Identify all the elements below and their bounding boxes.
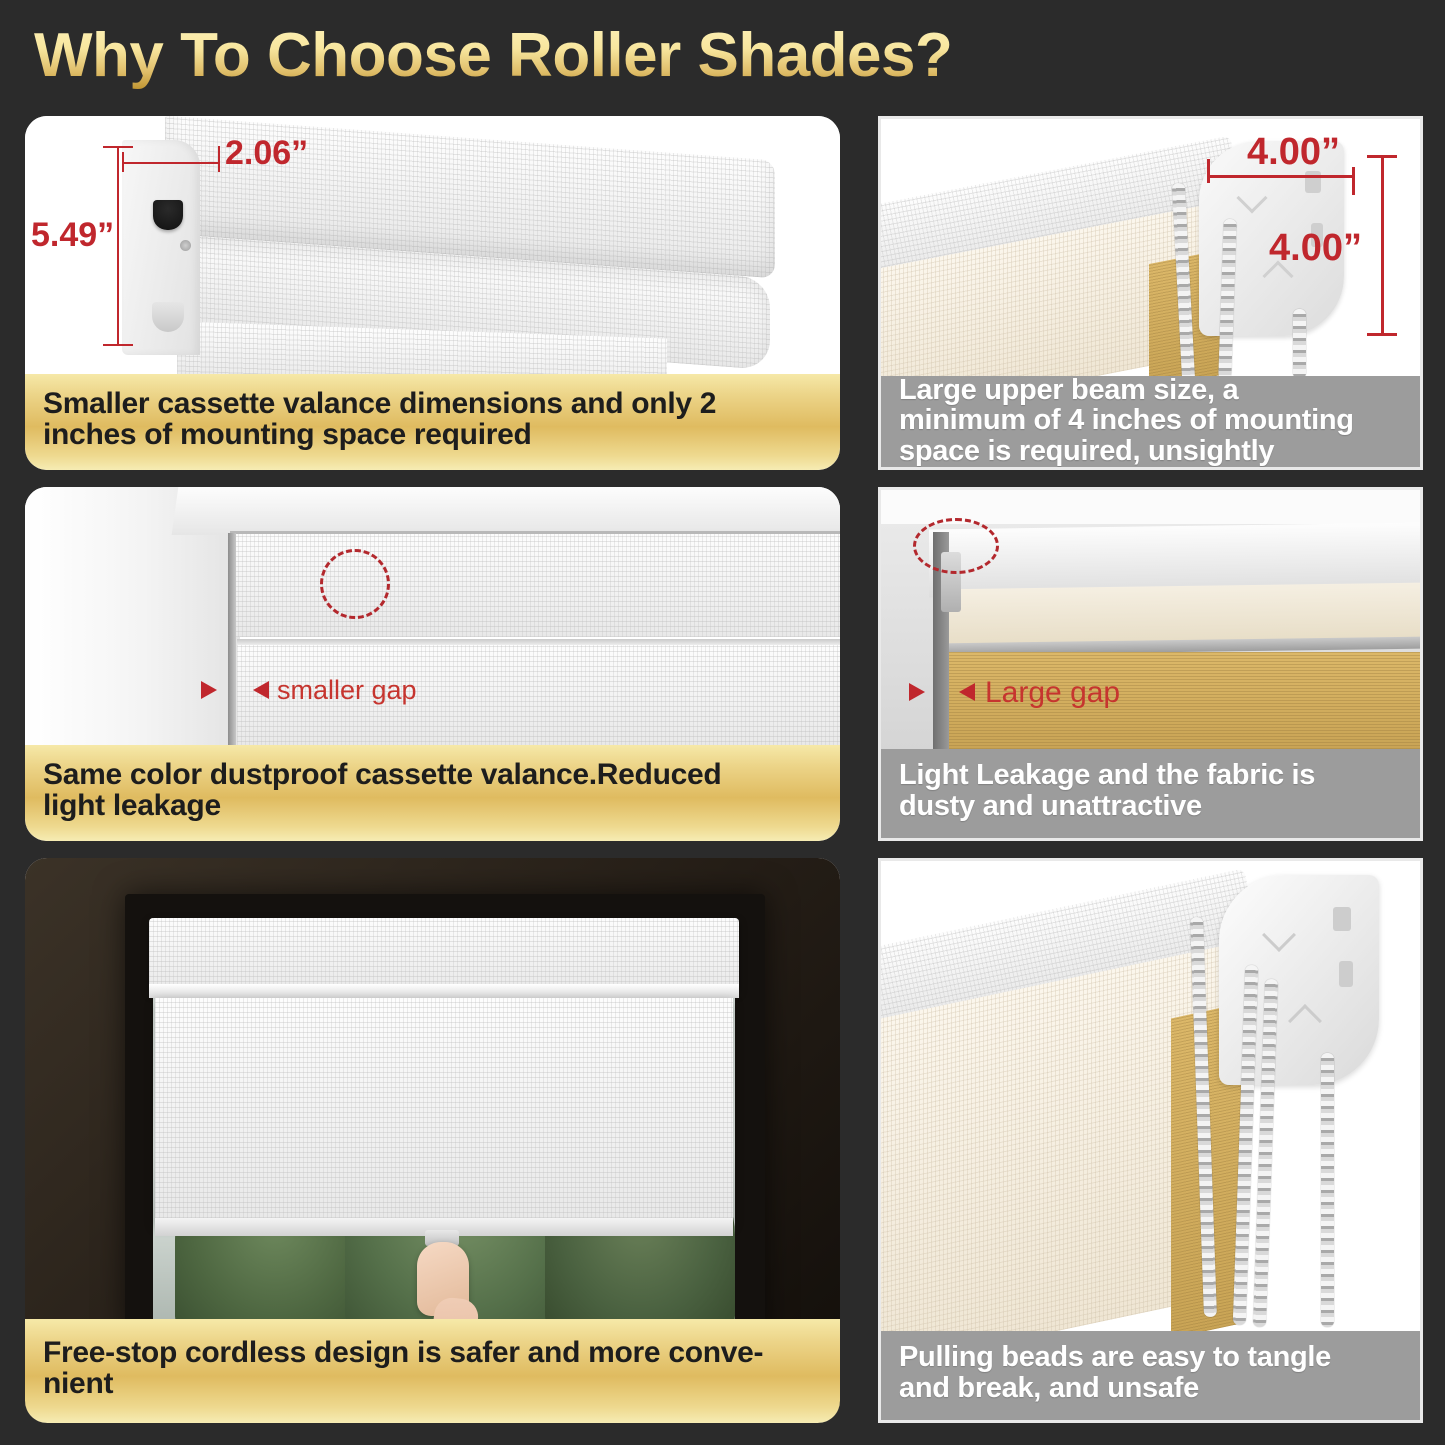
caption-line: Light Leakage and the fabric is: [899, 760, 1402, 790]
shade-fabric: [155, 998, 733, 1223]
shade-fabric-shadow-line: [237, 639, 840, 645]
caption-line: and break, and unsafe: [899, 1373, 1402, 1403]
width-dim-label: 2.06”: [225, 134, 308, 173]
cassette-valance-lip: [149, 984, 739, 998]
gap-label: smaller gap: [277, 675, 417, 706]
width-dim-tick-right: [218, 146, 220, 172]
gap-label: Large gap: [985, 676, 1120, 710]
beam-height-tick-top: [1367, 155, 1397, 158]
panel-light-leakage: Large gap Light Leakage and the fabric i…: [878, 487, 1423, 841]
caption-line: dusty and unattractive: [899, 791, 1402, 821]
bead-chain: [1293, 309, 1306, 376]
panel-pulling-beads: Pulling beads are easy to tangle and bre…: [878, 858, 1423, 1423]
panel-4-caption: Light Leakage and the fabric is dusty an…: [881, 749, 1420, 838]
panel-6-caption: Pulling beads are easy to tangle and bre…: [881, 1331, 1420, 1420]
caption-line: Pulling beads are easy to tangle: [899, 1342, 1402, 1372]
end-cap-screw-icon: [180, 240, 191, 251]
height-dim-tick-bottom: [103, 344, 133, 346]
gap-arrow-left-icon: [909, 683, 925, 701]
width-dim-tick-left: [122, 152, 124, 172]
gap-arrow-right-icon: [959, 683, 975, 701]
bracket-notch-icon: [1333, 907, 1351, 931]
panel-smaller-cassette: 5.49” 2.06” Smaller cassette valance dim…: [25, 116, 840, 470]
gap-highlight-circle: [913, 518, 999, 574]
gap-arrow-right-icon: [253, 681, 269, 699]
title-bar: Why To Choose Roller Shades?: [0, 0, 1445, 104]
panel-dustproof-valance: smaller gap Same color dustproof cassett…: [25, 487, 840, 841]
beam-width-dim-line: [1207, 175, 1355, 178]
height-dim-label: 5.49”: [31, 216, 114, 255]
bracket-notch-icon: [1339, 961, 1353, 987]
caption-line: minimum of 4 inches of mounting: [899, 405, 1402, 435]
panel-1-photo: 5.49” 2.06”: [25, 116, 840, 376]
beam-width-tick-right: [1352, 167, 1355, 195]
bead-chain: [1321, 1053, 1334, 1327]
caption-line: Free-stop cordless design is safer and m…: [43, 1337, 822, 1368]
panel-1-caption: Smaller cassette valance dimensions and …: [25, 374, 840, 470]
caption-line: Large upper beam size, a: [899, 375, 1402, 405]
caption-line: nient: [43, 1368, 822, 1399]
panel-5-caption: Free-stop cordless design is safer and m…: [25, 1319, 840, 1423]
cassette-valance: [149, 918, 739, 992]
panel-6-photo: [881, 861, 1420, 1331]
caption-line: space is required, unsightly: [899, 436, 1402, 466]
caption-line: inches of mounting space required: [43, 419, 822, 450]
beam-width-label: 4.00”: [1247, 131, 1340, 174]
caption-line: Smaller cassette valance dimensions and …: [43, 388, 822, 419]
panel-cordless-design: Free-stop cordless design is safer and m…: [25, 858, 840, 1423]
height-dim-line: [117, 146, 119, 346]
caption-line: light leakage: [43, 790, 822, 821]
window-casing-moulding: [172, 487, 840, 535]
panel-3-caption: Same color dustproof cassette valance.Re…: [25, 745, 840, 841]
page-title: Why To Choose Roller Shades?: [34, 20, 952, 91]
panel-4-photo: Large gap: [881, 490, 1420, 749]
beam-height-tick-bottom: [1367, 333, 1397, 336]
beam-width-tick-left: [1207, 159, 1210, 183]
cassette-edge-line: [230, 531, 840, 534]
caption-line: Same color dustproof cassette valance.Re…: [43, 759, 822, 790]
end-cap-slot-icon: [153, 200, 183, 230]
panel-large-beam: 4.00” 4.00” Large upper beam size, a min…: [878, 116, 1423, 470]
height-dim-tick-top: [103, 146, 133, 148]
panel-3-photo: smaller gap: [25, 487, 840, 747]
beam-height-dim-line: [1381, 155, 1384, 335]
gap-highlight-circle: [320, 549, 390, 619]
gap-arrow-left-icon: [201, 681, 217, 699]
panel-2-photo: 4.00” 4.00”: [881, 119, 1420, 376]
light-gap-strip: [228, 533, 236, 747]
beam-height-label: 4.00”: [1269, 227, 1362, 270]
width-dim-line: [122, 162, 220, 164]
panel-2-caption: Large upper beam size, a minimum of 4 in…: [881, 376, 1420, 467]
